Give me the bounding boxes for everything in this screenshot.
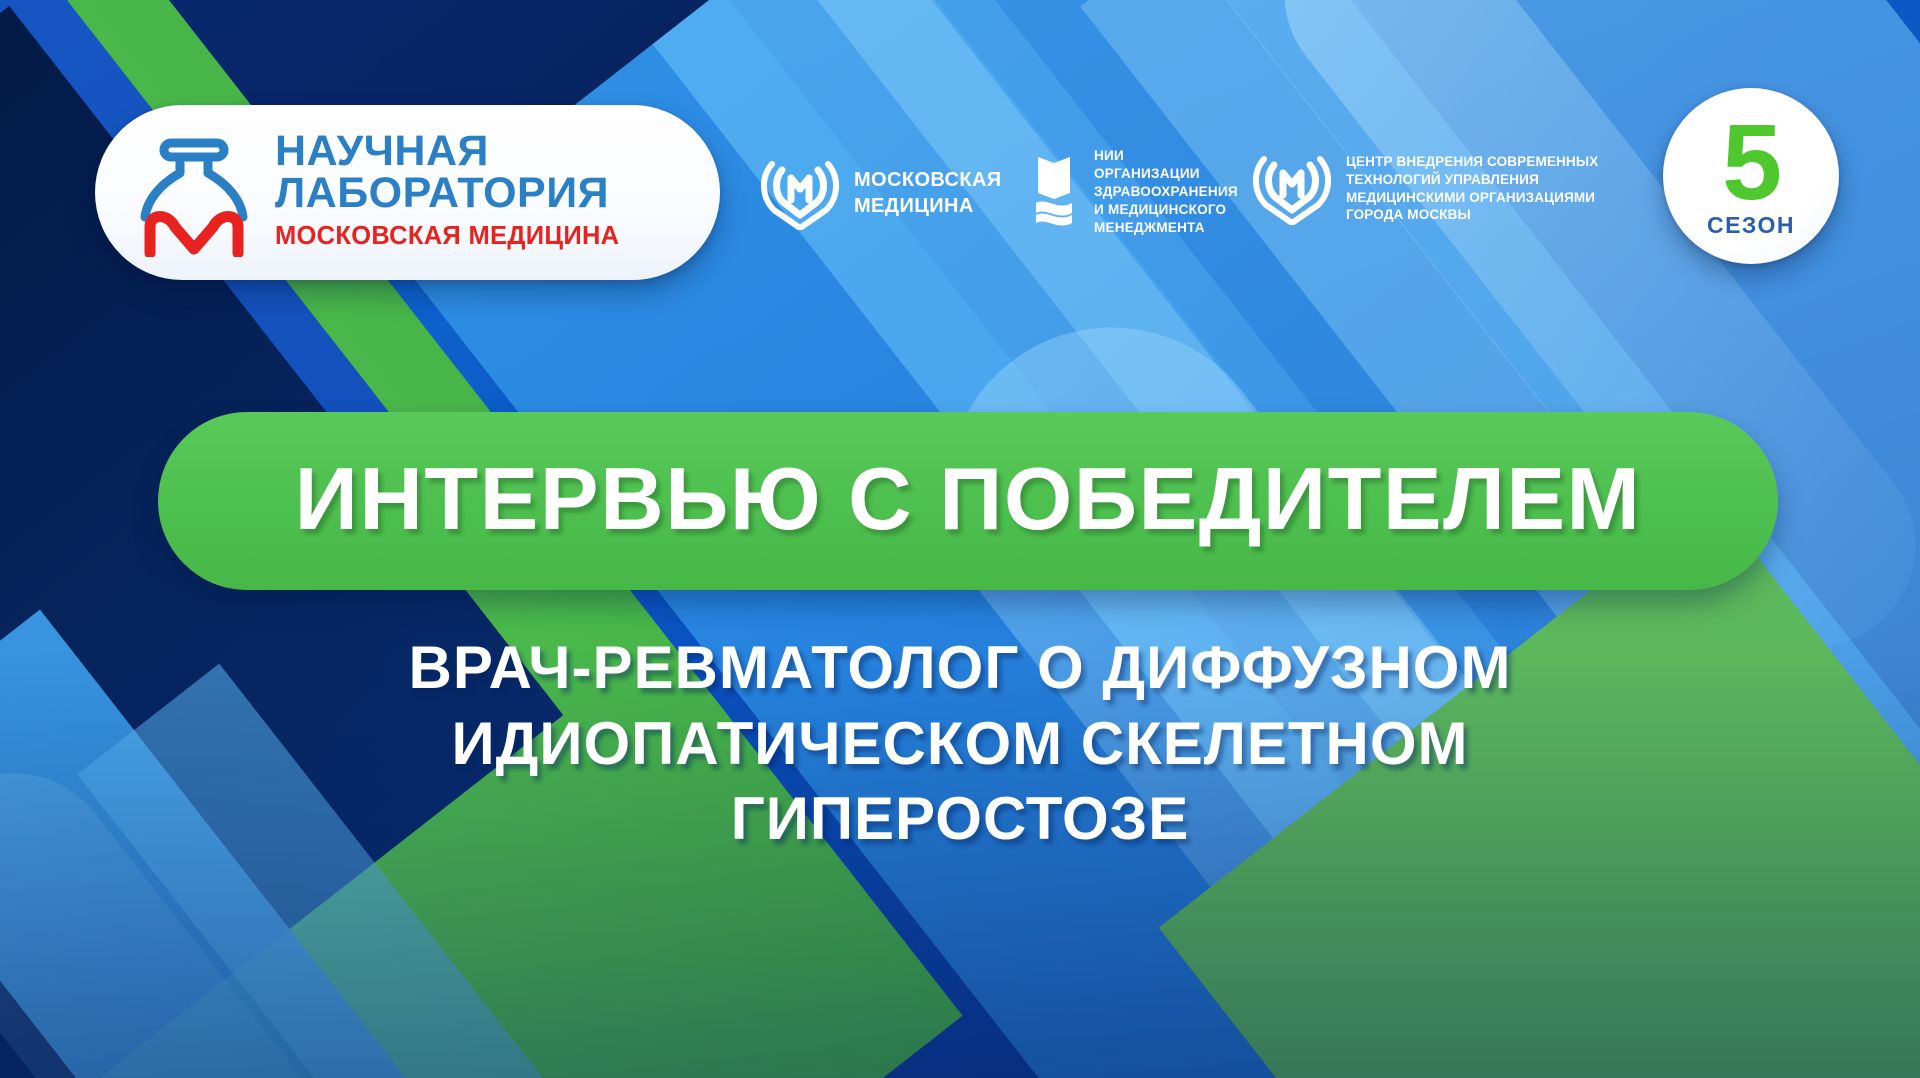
book-ribbon-icon [1028, 151, 1080, 232]
season-number: 5 [1722, 119, 1780, 205]
subtitle-block: ВРАЧ-РЕВМАТОЛОГ О ДИФФУЗНОМ ИДИОПАТИЧЕСК… [0, 630, 1920, 857]
partner-mm-line-2: МЕДИЦИНА [854, 194, 1002, 220]
partner-cvt-line-2: ТЕХНОЛОГИЙ УПРАВЛЕНИЯ [1346, 171, 1598, 189]
subtitle-line-2: ИДИОПАТИЧЕСКОМ СКЕЛЕТНОМ [0, 706, 1920, 782]
lab-line-3: МОСКОВСКАЯ МЕДИЦИНА [275, 219, 619, 253]
partner-nii-line-2: ОРГАНИЗАЦИИ [1094, 165, 1238, 183]
partner-center-modern-tech[interactable]: ЦЕНТР ВНЕДРЕНИЯ СОВРЕМЕННЫХ ТЕХНОЛОГИЙ У… [1252, 147, 1598, 230]
lab-brand-badge[interactable]: НАУЧНАЯ ЛАБОРАТОРИЯ МОСКОВСКАЯ МЕДИЦИНА [95, 105, 720, 280]
subtitle-line-1: ВРАЧ-РЕВМАТОЛОГ О ДИФФУЗНОМ [0, 630, 1920, 706]
title-pill: ИНТЕРВЬЮ С ПОБЕДИТЕЛЕМ [158, 412, 1778, 590]
partner-cvt-line-4: ГОРОДА МОСКВЫ [1346, 206, 1598, 224]
partner-nii-line-4: И МЕДИЦИНСКОГО [1094, 201, 1238, 219]
partner-mm-line-1: МОСКОВСКАЯ [854, 168, 1002, 194]
subtitle-line-3: ГИПЕРОСТОЗЕ [0, 781, 1920, 857]
partner-nii-line-5: МЕНЕДЖМЕНТА [1094, 219, 1238, 237]
lab-line-1: НАУЧНАЯ [275, 131, 619, 173]
partner-cvt-line-3: МЕДИЦИНСКИМИ ОРГАНИЗАЦИЯМИ [1346, 189, 1598, 207]
partner-moscow-medicine[interactable]: МОСКОВСКАЯ МЕДИЦИНА [760, 152, 1002, 235]
flask-m-icon [135, 129, 253, 257]
partner-nii-line-3: ЗДРАВООХРАНЕНИЯ [1094, 183, 1238, 201]
partner-cvt-label: ЦЕНТР ВНЕДРЕНИЯ СОВРЕМЕННЫХ ТЕХНОЛОГИЙ У… [1346, 153, 1598, 225]
lab-line-2: ЛАБОРАТОРИЯ [275, 173, 619, 215]
poster-canvas: НАУЧНАЯ ЛАБОРАТОРИЯ МОСКОВСКАЯ МЕДИЦИНА [0, 0, 1920, 1078]
partner-nii-line-1: НИИ [1094, 147, 1238, 165]
partner-cvt-line-1: ЦЕНТР ВНЕДРЕНИЯ СОВРЕМЕННЫХ [1346, 153, 1598, 171]
heart-m-icon [760, 152, 840, 235]
header-bar: НАУЧНАЯ ЛАБОРАТОРИЯ МОСКОВСКАЯ МЕДИЦИНА [0, 0, 1920, 300]
season-badge[interactable]: 5 СЕЗОН [1663, 88, 1839, 264]
title-pill-text: ИНТЕРВЬЮ С ПОБЕДИТЕЛЕМ [295, 448, 1642, 550]
lab-brand-text: НАУЧНАЯ ЛАБОРАТОРИЯ МОСКОВСКАЯ МЕДИЦИНА [275, 131, 619, 254]
heart-m-icon [1252, 147, 1332, 230]
partner-moscow-medicine-label: МОСКОВСКАЯ МЕДИЦИНА [854, 168, 1002, 219]
partner-nii-label: НИИ ОРГАНИЗАЦИИ ЗДРАВООХРАНЕНИЯ И МЕДИЦИ… [1094, 147, 1238, 237]
partner-nii[interactable]: НИИ ОРГАНИЗАЦИИ ЗДРАВООХРАНЕНИЯ И МЕДИЦИ… [1028, 147, 1238, 237]
